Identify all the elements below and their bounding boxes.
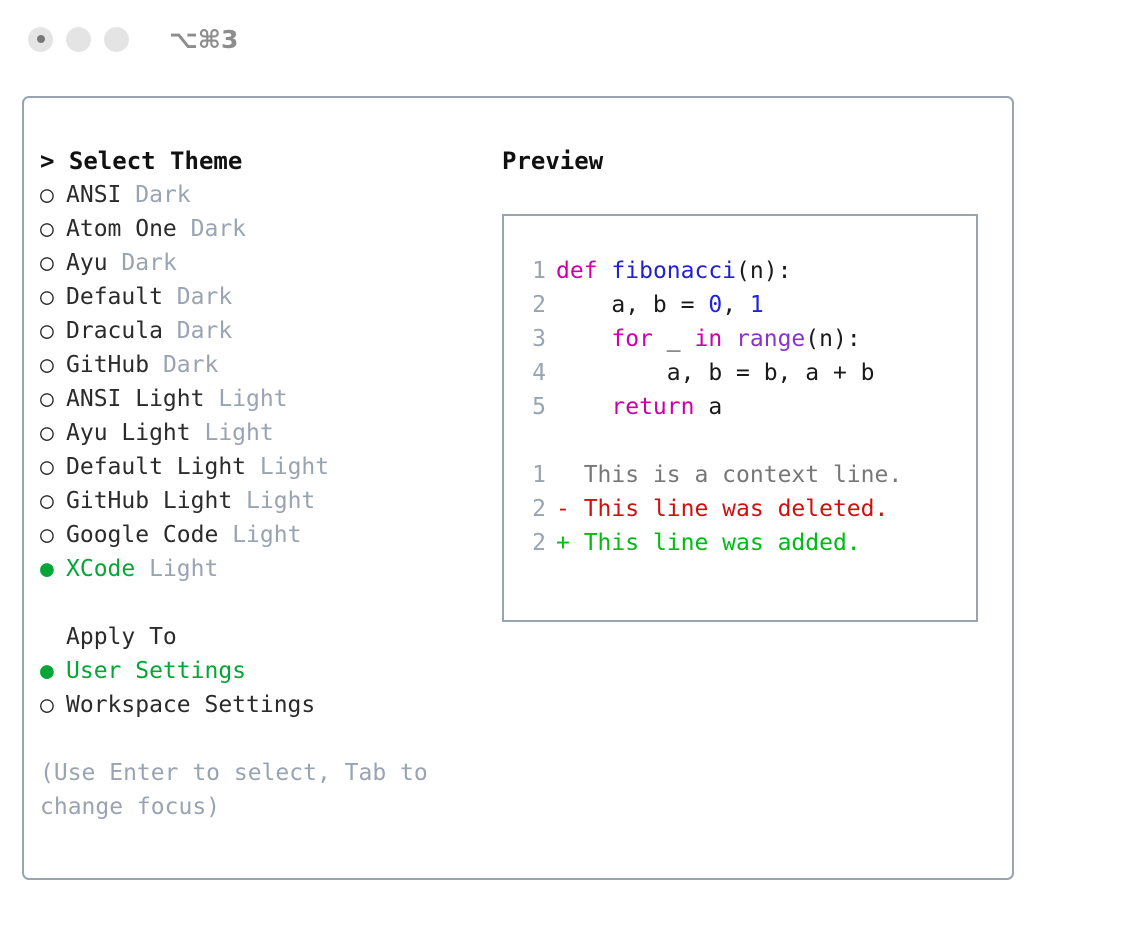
line-number: 1 <box>518 254 546 288</box>
radio-unselected-icon: ○ <box>40 280 66 314</box>
radio-unselected-icon: ○ <box>40 450 66 484</box>
theme-option-kind: Light <box>218 386 287 412</box>
theme-selector-column: > Select Theme ○ANSI Dark○Atom One Dark○… <box>40 144 500 824</box>
theme-option-xcode[interactable]: ●XCode Light <box>40 552 500 586</box>
theme-option-kind: Dark <box>177 284 232 310</box>
spacer <box>518 424 976 458</box>
spacer <box>163 284 177 310</box>
spacer <box>149 352 163 378</box>
theme-option-dracula[interactable]: ○Dracula Dark <box>40 314 500 348</box>
theme-option-ansi[interactable]: ○ANSI Dark <box>40 178 500 212</box>
window-dot-active-icon[interactable] <box>28 27 53 52</box>
window-dot-second-icon[interactable] <box>66 27 91 52</box>
theme-option-ayu-light[interactable]: ○Ayu Light Light <box>40 416 500 450</box>
diff-sign: + <box>556 530 584 556</box>
theme-option-default-light[interactable]: ○Default Light Light <box>40 450 500 484</box>
spacer <box>232 488 246 514</box>
preview-heading: Preview <box>502 144 1002 178</box>
theme-option-name: ANSI <box>66 182 121 208</box>
theme-option-atom-one[interactable]: ○Atom One Dark <box>40 212 500 246</box>
code-token <box>722 326 736 352</box>
code-token: return <box>611 394 694 420</box>
apply-to-option-workspace-settings[interactable]: ○Workspace Settings <box>40 688 500 722</box>
radio-selected-icon: ● <box>40 654 66 688</box>
code-token <box>556 394 611 420</box>
window-dot-third-icon[interactable] <box>104 27 129 52</box>
radio-unselected-icon: ○ <box>40 314 66 348</box>
theme-option-kind: Dark <box>191 216 246 242</box>
diff-line-del: 2- This line was deleted. <box>518 492 976 526</box>
diff-sample: 1 This is a context line.2- This line wa… <box>518 458 976 560</box>
radio-unselected-icon: ○ <box>40 518 66 552</box>
select-theme-heading: > Select Theme <box>40 144 500 178</box>
code-token: _ <box>653 326 695 352</box>
code-token: 0 <box>708 292 722 318</box>
line-number: 1 <box>518 458 546 492</box>
code-token <box>598 258 612 284</box>
code-token: fibonacci <box>611 258 736 284</box>
diff-line-add: 2+ This line was added. <box>518 526 976 560</box>
apply-to-list: ●User Settings○Workspace Settings <box>40 654 500 722</box>
spacer <box>40 586 500 620</box>
theme-option-kind: Light <box>149 556 218 582</box>
spacer <box>246 454 260 480</box>
spacer <box>191 420 205 446</box>
keyboard-shortcut-label: ⌥⌘3 <box>169 25 238 54</box>
code-line: 1def fibonacci(n): <box>518 254 976 288</box>
radio-unselected-icon: ○ <box>40 688 66 722</box>
code-token: def <box>556 258 598 284</box>
theme-option-name: GitHub <box>66 352 149 378</box>
theme-option-name: Atom One <box>66 216 177 242</box>
code-token <box>556 326 611 352</box>
panel-columns: > Select Theme ○ANSI Dark○Atom One Dark○… <box>24 98 1012 878</box>
radio-unselected-icon: ○ <box>40 382 66 416</box>
apply-to-heading: Apply To <box>40 620 500 654</box>
spacer <box>121 182 135 208</box>
theme-list: ○ANSI Dark○Atom One Dark○Ayu Dark○Defaul… <box>40 178 500 586</box>
theme-option-ansi-light[interactable]: ○ANSI Light Light <box>40 382 500 416</box>
diff-sign <box>556 462 584 488</box>
theme-option-github-light[interactable]: ○GitHub Light Light <box>40 484 500 518</box>
code-token: (n): <box>736 258 791 284</box>
code-token: , <box>722 292 750 318</box>
code-token: 1 <box>750 292 764 318</box>
code-line: 4 a, b = b, a + b <box>518 356 976 390</box>
line-number: 2 <box>518 526 546 560</box>
theme-option-kind: Light <box>232 522 301 548</box>
code-token: (n): <box>805 326 860 352</box>
spacer <box>135 556 149 582</box>
radio-unselected-icon: ○ <box>40 348 66 382</box>
code-sample: 1def fibonacci(n):2 a, b = 0, 13 for _ i… <box>518 254 976 424</box>
line-number: 2 <box>518 492 546 526</box>
theme-option-kind: Dark <box>163 352 218 378</box>
radio-unselected-icon: ○ <box>40 246 66 280</box>
code-token: for <box>611 326 653 352</box>
theme-option-name: Dracula <box>66 318 163 344</box>
line-number: 2 <box>518 288 546 322</box>
radio-unselected-icon: ○ <box>40 416 66 450</box>
diff-sign: - <box>556 496 584 522</box>
theme-option-kind: Dark <box>135 182 190 208</box>
diff-text: This line was deleted. <box>584 496 889 522</box>
theme-option-github[interactable]: ○GitHub Dark <box>40 348 500 382</box>
radio-unselected-icon: ○ <box>40 178 66 212</box>
radio-unselected-icon: ○ <box>40 212 66 246</box>
code-token: a <box>694 394 722 420</box>
main-panel: > Select Theme ○ANSI Dark○Atom One Dark○… <box>22 96 1014 880</box>
spacer <box>218 522 232 548</box>
title-bar: ⌥⌘3 <box>0 0 1140 78</box>
window-controls <box>28 27 129 52</box>
radio-selected-icon: ● <box>40 552 66 586</box>
apply-to-option-user-settings[interactable]: ●User Settings <box>40 654 500 688</box>
diff-text: This line was added. <box>584 530 861 556</box>
code-token: a, b = b, a + b <box>556 360 875 386</box>
code-token: a, b = <box>556 292 708 318</box>
theme-option-name: GitHub Light <box>66 488 232 514</box>
preview-column: Preview 1def fibonacci(n):2 a, b = 0, 13… <box>502 144 1002 622</box>
theme-option-default[interactable]: ○Default Dark <box>40 280 500 314</box>
code-line: 2 a, b = 0, 1 <box>518 288 976 322</box>
line-number: 5 <box>518 390 546 424</box>
theme-option-google-code[interactable]: ○Google Code Light <box>40 518 500 552</box>
apply-to-option-label: User Settings <box>66 658 246 684</box>
line-number: 3 <box>518 322 546 356</box>
diff-line-ctx: 1 This is a context line. <box>518 458 976 492</box>
theme-option-name: Ayu Light <box>66 420 191 446</box>
theme-option-kind: Light <box>260 454 329 480</box>
theme-option-name: ANSI Light <box>66 386 204 412</box>
theme-option-kind: Dark <box>121 250 176 276</box>
line-number: 4 <box>518 356 546 390</box>
theme-option-name: Default Light <box>66 454 246 480</box>
window-dot-inner <box>37 35 45 43</box>
code-line: 3 for _ in range(n): <box>518 322 976 356</box>
theme-option-kind: Light <box>246 488 315 514</box>
code-token: in <box>694 326 722 352</box>
code-line: 5 return a <box>518 390 976 424</box>
theme-option-name: Default <box>66 284 163 310</box>
preview-box: 1def fibonacci(n):2 a, b = 0, 13 for _ i… <box>502 214 978 622</box>
theme-option-ayu[interactable]: ○Ayu Dark <box>40 246 500 280</box>
theme-option-name: XCode <box>66 556 135 582</box>
code-token: range <box>736 326 805 352</box>
app-window: ⌥⌘3 > Select Theme ○ANSI Dark○Atom One D… <box>0 0 1140 934</box>
radio-unselected-icon: ○ <box>40 484 66 518</box>
spacer <box>204 386 218 412</box>
theme-option-kind: Dark <box>177 318 232 344</box>
apply-to-option-label: Workspace Settings <box>66 692 315 718</box>
theme-option-name: Ayu <box>66 250 108 276</box>
diff-text: This is a context line. <box>584 462 903 488</box>
spacer <box>163 318 177 344</box>
spacer <box>177 216 191 242</box>
theme-option-name: Google Code <box>66 522 218 548</box>
theme-option-kind: Light <box>204 420 273 446</box>
keyboard-hint: (Use Enter to select, Tab to change focu… <box>40 756 450 824</box>
spacer <box>108 250 122 276</box>
